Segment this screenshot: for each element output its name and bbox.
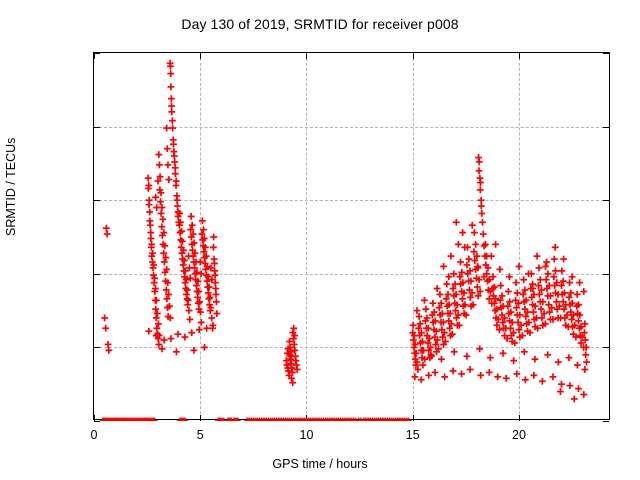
x-tick-label: 15 bbox=[406, 428, 420, 442]
scatter-points-layer bbox=[94, 53, 611, 421]
plot-area: 00.050.10.150.20.2505101520 bbox=[93, 52, 610, 420]
x-tick-label: 5 bbox=[197, 428, 204, 442]
x-tick-label: 10 bbox=[300, 428, 314, 442]
x-axis-title: GPS time / hours bbox=[0, 457, 640, 471]
chart-root: Day 130 of 2019, SRMTID for receiver p00… bbox=[0, 0, 640, 480]
y-axis-title: SRMTID / TECUs bbox=[4, 138, 18, 236]
x-tick-label: 0 bbox=[91, 428, 98, 442]
scatter-series bbox=[100, 60, 590, 421]
y-tick-mark bbox=[94, 421, 100, 422]
chart-title: Day 130 of 2019, SRMTID for receiver p00… bbox=[0, 16, 640, 32]
y-tick-mark-right bbox=[603, 421, 609, 422]
x-tick-label: 20 bbox=[512, 428, 526, 442]
